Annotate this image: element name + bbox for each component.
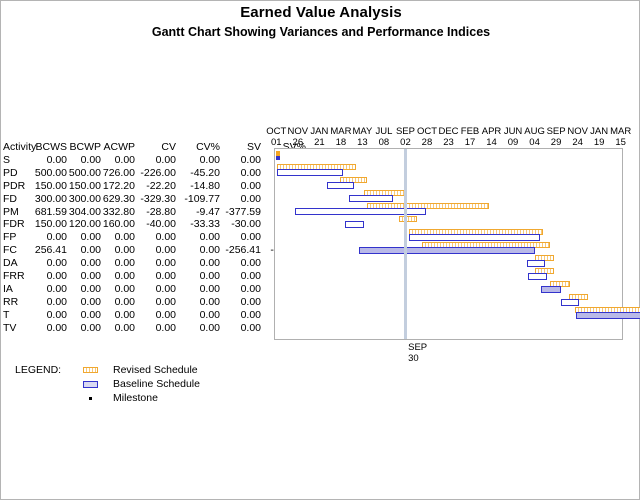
cell-bcwp: 0.00 [68, 257, 102, 270]
cell-cv: 0.00 [136, 270, 177, 283]
milestone-swatch-icon [89, 397, 92, 400]
cell-sv: 0.00 [221, 231, 262, 244]
cell-bcws: 256.41 [34, 244, 68, 257]
cell-sv: 0.00 [221, 193, 262, 206]
cell-bcws: 0.00 [34, 154, 68, 167]
cell-bcwp: 0.00 [68, 231, 102, 244]
cell-sv: -256.41 [221, 244, 262, 257]
cell-sv: 0.00 [221, 154, 262, 167]
gantt-plot-area [275, 149, 622, 339]
cell-activity: RR [1, 296, 34, 309]
cell-bcwp: 0.00 [68, 154, 102, 167]
gantt-bar-baseline [576, 312, 640, 319]
cell-sv: 0.00 [221, 180, 262, 193]
gantt-bar-baseline [349, 195, 393, 202]
table-row: DA0.000.000.000.000.000.000.00 [1, 257, 307, 270]
gantt-bar-baseline [409, 234, 540, 241]
cell-cvp: -14.80 [177, 180, 221, 193]
table-row: FRR0.000.000.000.000.000.000.00 [1, 270, 307, 283]
evm-table: Activity BCWS BCWP ACWP CV CV% SV SV% S0… [1, 141, 307, 335]
col-cv-pct: CV% [177, 141, 221, 154]
cell-cvp: -9.47 [177, 206, 221, 219]
col-cv: CV [136, 141, 177, 154]
cell-acwp: 629.30 [102, 193, 136, 206]
gantt-bar-baseline [345, 221, 364, 228]
gantt-bar-baseline [528, 273, 547, 280]
legend-label-milestone: Milestone [107, 391, 158, 405]
cell-bcwp: 0.00 [68, 309, 102, 322]
cell-cvp: -33.33 [177, 218, 221, 231]
cell-cvp: 0.00 [177, 257, 221, 270]
cell-cv: 0.00 [136, 231, 177, 244]
cell-activity: FC [1, 244, 34, 257]
legend-label-revised: Revised Schedule [107, 363, 198, 377]
cell-bcws: 0.00 [34, 283, 68, 296]
cell-cvp: -109.77 [177, 193, 221, 206]
legend-row-baseline: Baseline Schedule [15, 377, 200, 391]
cell-activity: FP [1, 231, 34, 244]
cell-cv: 0.00 [136, 154, 177, 167]
gantt-chart [274, 148, 623, 340]
page-title: Earned Value Analysis [1, 4, 640, 22]
cell-cvp: 0.00 [177, 270, 221, 283]
table-row: PM681.59304.00332.80-28.80-9.47-377.59-5… [1, 206, 307, 219]
cell-acwp: 332.80 [102, 206, 136, 219]
status-date-month: SEP [408, 342, 427, 353]
table-row: PDR150.00150.00172.20-22.20-14.800.000.0… [1, 180, 307, 193]
table-row: FDR150.00120.00160.00-40.00-33.33-30.00-… [1, 218, 307, 231]
milestone-marker-baseline-icon [276, 156, 280, 160]
legend-title: LEGEND: [15, 363, 73, 377]
cell-bcws: 0.00 [34, 257, 68, 270]
cell-activity: PDR [1, 180, 34, 193]
status-date-day: 30 [408, 353, 427, 364]
legend-row-milestone: Milestone [15, 391, 200, 405]
cell-bcwp: 0.00 [68, 244, 102, 257]
table-row: RR0.000.000.000.000.000.000.00 [1, 296, 307, 309]
table-row: FD300.00300.00629.30-329.30-109.770.000.… [1, 193, 307, 206]
status-date-reference-line [404, 149, 407, 339]
cell-bcws: 0.00 [34, 322, 68, 335]
cell-cv: 0.00 [136, 244, 177, 257]
cell-bcws: 681.59 [34, 206, 68, 219]
chart-legend: LEGEND: Revised Schedule Baseline Schedu… [15, 363, 200, 405]
col-bcwp: BCWP [68, 141, 102, 154]
cell-activity: TV [1, 322, 34, 335]
cell-bcws: 0.00 [34, 309, 68, 322]
legend-label-baseline: Baseline Schedule [107, 377, 200, 391]
cell-cv: 0.00 [136, 283, 177, 296]
cell-activity: S [1, 154, 34, 167]
evm-table-area: Activity BCWS BCWP ACWP CV CV% SV SV% S0… [1, 141, 273, 335]
table-row: TV0.000.000.000.000.000.000.00 [1, 322, 307, 335]
cell-activity: FRR [1, 270, 34, 283]
table-row: FP0.000.000.000.000.000.000.00 [1, 231, 307, 244]
cell-acwp: 172.20 [102, 180, 136, 193]
table-row: FC256.410.000.000.000.00-256.41-100.00 [1, 244, 307, 257]
gantt-bar-baseline [527, 260, 546, 267]
cell-cvp: 0.00 [177, 154, 221, 167]
cell-activity: DA [1, 257, 34, 270]
col-activity: Activity [1, 141, 34, 154]
gantt-bar-baseline [359, 247, 535, 254]
cell-cvp: 0.00 [177, 296, 221, 309]
gantt-bar-baseline [327, 182, 353, 189]
cell-bcwp: 0.00 [68, 270, 102, 283]
cell-activity: PD [1, 167, 34, 180]
cell-cv: 0.00 [136, 322, 177, 335]
cell-cv: 0.00 [136, 296, 177, 309]
report-page: Earned Value Analysis Gantt Chart Showin… [0, 0, 640, 500]
title-block: Earned Value Analysis Gantt Chart Showin… [1, 4, 640, 40]
cell-sv: 0.00 [221, 257, 262, 270]
cell-sv: -377.59 [221, 206, 262, 219]
cell-acwp: 0.00 [102, 322, 136, 335]
gantt-bar-baseline [277, 169, 343, 176]
cell-cvp: 0.00 [177, 244, 221, 257]
gantt-bar-revised [399, 216, 418, 222]
cell-bcwp: 0.00 [68, 322, 102, 335]
col-bcws: BCWS [34, 141, 68, 154]
table-row: S0.000.000.000.000.000.000.00 [1, 154, 307, 167]
revised-swatch-wrap [73, 367, 107, 373]
cell-sv: 0.00 [221, 270, 262, 283]
cell-cvp: -45.20 [177, 167, 221, 180]
cell-bcwp: 500.00 [68, 167, 102, 180]
cell-activity: IA [1, 283, 34, 296]
cell-cv: 0.00 [136, 257, 177, 270]
cell-acwp: 0.00 [102, 154, 136, 167]
cell-bcws: 300.00 [34, 193, 68, 206]
col-acwp: ACWP [102, 141, 136, 154]
cell-bcwp: 150.00 [68, 180, 102, 193]
cell-bcwp: 304.00 [68, 206, 102, 219]
cell-cvp: 0.00 [177, 322, 221, 335]
cell-activity: T [1, 309, 34, 322]
cell-cv: -40.00 [136, 218, 177, 231]
cell-acwp: 726.00 [102, 167, 136, 180]
cell-acwp: 0.00 [102, 257, 136, 270]
cell-sv: 0.00 [221, 283, 262, 296]
cell-sv: 0.00 [221, 296, 262, 309]
cell-cvp: 0.00 [177, 283, 221, 296]
baseline-schedule-swatch-icon [83, 381, 98, 388]
page-subtitle: Gantt Chart Showing Variances and Perfor… [1, 24, 640, 40]
cell-acwp: 0.00 [102, 296, 136, 309]
cell-bcwp: 0.00 [68, 283, 102, 296]
cell-bcws: 0.00 [34, 270, 68, 283]
cell-bcws: 500.00 [34, 167, 68, 180]
cell-bcwp: 300.00 [68, 193, 102, 206]
cell-cv: -22.20 [136, 180, 177, 193]
status-date-label: SEP 30 [408, 342, 427, 364]
cell-sv: 0.00 [221, 322, 262, 335]
cell-sv: 0.00 [221, 167, 262, 180]
cell-sv: -30.00 [221, 218, 262, 231]
cell-acwp: 0.00 [102, 283, 136, 296]
cell-cvp: 0.00 [177, 231, 221, 244]
cell-cvp: 0.00 [177, 309, 221, 322]
cell-cv: -226.00 [136, 167, 177, 180]
cell-bcwp: 0.00 [68, 296, 102, 309]
cell-acwp: 0.00 [102, 270, 136, 283]
milestone-swatch-wrap [73, 397, 107, 400]
cell-activity: PM [1, 206, 34, 219]
gantt-bar-baseline [541, 286, 561, 293]
gantt-bar-baseline [561, 299, 578, 306]
legend-row-revised: LEGEND: Revised Schedule [15, 363, 200, 377]
cell-bcws: 0.00 [34, 296, 68, 309]
cell-activity: FDR [1, 218, 34, 231]
cell-acwp: 160.00 [102, 218, 136, 231]
cell-acwp: 0.00 [102, 309, 136, 322]
revised-schedule-swatch-icon [83, 367, 98, 373]
cell-cv: 0.00 [136, 309, 177, 322]
cell-cv: -329.30 [136, 193, 177, 206]
table-row: PD500.00500.00726.00-226.00-45.200.000.0… [1, 167, 307, 180]
table-row: T0.000.000.000.000.000.000.00 [1, 309, 307, 322]
cell-bcws: 150.00 [34, 180, 68, 193]
baseline-swatch-wrap [73, 381, 107, 388]
cell-bcws: 150.00 [34, 218, 68, 231]
cell-bcwp: 120.00 [68, 218, 102, 231]
cell-bcws: 0.00 [34, 231, 68, 244]
cell-acwp: 0.00 [102, 244, 136, 257]
cell-cv: -28.80 [136, 206, 177, 219]
table-row: IA0.000.000.000.000.000.000.00 [1, 283, 307, 296]
cell-sv: 0.00 [221, 309, 262, 322]
cell-activity: FD [1, 193, 34, 206]
cell-acwp: 0.00 [102, 231, 136, 244]
